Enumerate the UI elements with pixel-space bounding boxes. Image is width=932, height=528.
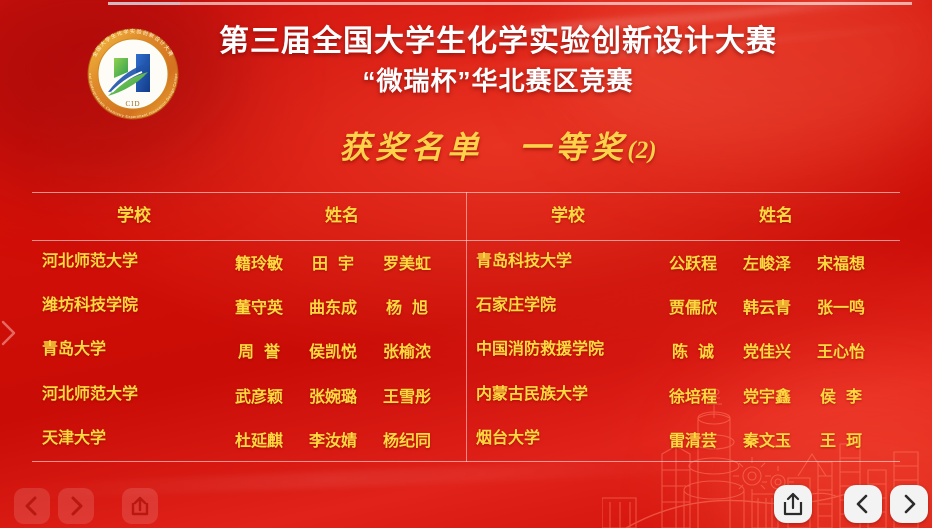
winner-name: 籍玲敏 <box>222 250 296 274</box>
winner-name: 曲东成 <box>296 294 370 318</box>
school-cell: 河北师范大学 <box>42 240 218 284</box>
table-row: 青岛大学周誉侯凯悦张榆浓 <box>32 328 466 372</box>
winner-name: 韩云青 <box>730 294 804 318</box>
winner-name: 武彦颖 <box>222 383 296 407</box>
winners-table: 学校 姓名 河北师范大学籍玲敏田宇罗美虹潍坊科技学院董守英曲东成杨旭青岛大学周誉… <box>32 192 900 462</box>
chevron-right-icon <box>58 488 94 524</box>
winner-name: 杨旭 <box>370 294 444 318</box>
school-cell: 内蒙古民族大学 <box>476 373 652 417</box>
table-body-right: 青岛科技大学公跃程左峻泽宋福想石家庄学院贾儒欣韩云青张一鸣中国消防救援学院陈诚党… <box>466 240 900 461</box>
prev-button[interactable] <box>844 485 882 523</box>
school-cell: 石家庄学院 <box>476 284 652 328</box>
column-header-school: 学校 <box>484 192 652 240</box>
competition-emblem-logo: 全国大学生化学实验创新设计大赛 National Undergraduate C… <box>74 22 192 126</box>
table-row: 烟台大学雷清芸秦文玉王珂 <box>466 417 900 461</box>
logo-monogram-text: CID <box>125 100 140 108</box>
slide-canvas: 全国大学生化学实验创新设计大赛 National Undergraduate C… <box>0 0 932 528</box>
share-icon <box>122 488 158 524</box>
winner-name: 王心怡 <box>804 338 878 362</box>
school-cell: 青岛大学 <box>42 328 218 372</box>
winners-table-right: 学校 姓名 青岛科技大学公跃程左峻泽宋福想石家庄学院贾儒欣韩云青张一鸣中国消防救… <box>466 192 900 462</box>
award-heading: 获奖名单 一等奖(2) <box>188 122 808 167</box>
table-row: 内蒙古民族大学徐培程党宇鑫侯李 <box>466 373 900 417</box>
share-button[interactable] <box>774 485 812 523</box>
progress-track <box>108 2 912 5</box>
winner-name: 张榆浓 <box>370 338 444 362</box>
share-icon <box>774 485 812 523</box>
award-heading-label: 获奖名单 一等奖 <box>339 130 627 165</box>
progress-fill <box>108 2 180 5</box>
winner-name: 侯凯悦 <box>296 338 370 362</box>
table-row: 河北师范大学籍玲敏田宇罗美虹 <box>32 240 466 284</box>
names-cell: 周誉侯凯悦张榆浓 <box>222 328 462 372</box>
winner-name: 秦文玉 <box>730 427 804 451</box>
table-row: 石家庄学院贾儒欣韩云青张一鸣 <box>466 284 900 328</box>
names-cell: 贾儒欣韩云青张一鸣 <box>656 284 896 328</box>
column-header-name: 姓名 <box>228 192 456 240</box>
winner-name: 党佳兴 <box>730 338 804 362</box>
winner-name: 左峻泽 <box>730 250 804 274</box>
school-cell: 青岛科技大学 <box>476 240 652 284</box>
winner-name: 贾儒欣 <box>656 294 730 318</box>
winner-name: 杨纪同 <box>370 427 444 451</box>
next-page-ghost-button[interactable] <box>58 488 94 524</box>
winner-name: 杜延麒 <box>222 427 296 451</box>
winner-name: 张一鸣 <box>804 294 878 318</box>
bottom-right-toolbar <box>752 480 932 528</box>
winner-name: 王雪彤 <box>370 383 444 407</box>
names-cell: 董守英曲东成杨旭 <box>222 284 462 328</box>
edge-next-chevron-icon[interactable] <box>0 316 20 350</box>
chevron-right-icon <box>890 485 928 523</box>
column-header-school: 学校 <box>50 192 218 240</box>
winner-name: 雷清芸 <box>656 427 730 451</box>
title-block: 第三届全国大学生化学实验创新设计大赛 “微瑞杯”华北赛区竞赛 <box>188 22 808 100</box>
table-body-left: 河北师范大学籍玲敏田宇罗美虹潍坊科技学院董守英曲东成杨旭青岛大学周誉侯凯悦张榆浓… <box>32 240 466 461</box>
award-heading-count: (2) <box>627 137 656 164</box>
column-header-name: 姓名 <box>662 192 890 240</box>
next-button[interactable] <box>890 485 928 523</box>
winner-name: 罗美虹 <box>370 250 444 274</box>
names-cell: 武彦颖张婉璐王雪彤 <box>222 373 462 417</box>
winner-name: 徐培程 <box>656 383 730 407</box>
table-row: 河北师范大学武彦颖张婉璐王雪彤 <box>32 373 466 417</box>
page-subtitle: “微瑞杯”华北赛区竞赛 <box>188 62 808 100</box>
top-progress-bar[interactable] <box>0 0 932 6</box>
page-title: 第三届全国大学生化学实验创新设计大赛 <box>188 22 808 62</box>
winner-name: 田宇 <box>296 250 370 274</box>
chevron-left-icon <box>844 485 882 523</box>
names-cell: 籍玲敏田宇罗美虹 <box>222 240 462 284</box>
winners-table-left: 学校 姓名 河北师范大学籍玲敏田宇罗美虹潍坊科技学院董守英曲东成杨旭青岛大学周誉… <box>32 192 466 462</box>
school-cell: 烟台大学 <box>476 417 652 461</box>
winner-name: 张婉璐 <box>296 383 370 407</box>
names-cell: 陈诚党佳兴王心怡 <box>656 328 896 372</box>
share-ghost-button[interactable] <box>122 488 158 524</box>
names-cell: 公跃程左峻泽宋福想 <box>656 240 896 284</box>
school-cell: 潍坊科技学院 <box>42 284 218 328</box>
winner-name: 党宇鑫 <box>730 383 804 407</box>
table-row: 中国消防救援学院陈诚党佳兴王心怡 <box>466 328 900 372</box>
names-cell: 雷清芸秦文玉王珂 <box>656 417 896 461</box>
winner-name: 宋福想 <box>804 250 878 274</box>
table-row: 潍坊科技学院董守英曲东成杨旭 <box>32 284 466 328</box>
winner-name: 侯李 <box>804 383 878 407</box>
school-cell: 中国消防救援学院 <box>476 328 652 372</box>
winner-name: 董守英 <box>222 294 296 318</box>
winner-name: 公跃程 <box>656 250 730 274</box>
chevron-left-icon <box>14 488 50 524</box>
winner-name: 周誉 <box>222 338 296 362</box>
winner-name: 陈诚 <box>656 338 730 362</box>
bottom-left-toolbar <box>0 485 210 528</box>
names-cell: 杜延麒李汝婧杨纪同 <box>222 417 462 461</box>
winner-name: 王珂 <box>804 427 878 451</box>
table-row: 天津大学杜延麒李汝婧杨纪同 <box>32 417 466 461</box>
school-cell: 河北师范大学 <box>42 373 218 417</box>
table-row: 青岛科技大学公跃程左峻泽宋福想 <box>466 240 900 284</box>
winner-name: 李汝婧 <box>296 427 370 451</box>
names-cell: 徐培程党宇鑫侯李 <box>656 373 896 417</box>
prev-page-ghost-button[interactable] <box>14 488 50 524</box>
school-cell: 天津大学 <box>42 417 218 461</box>
